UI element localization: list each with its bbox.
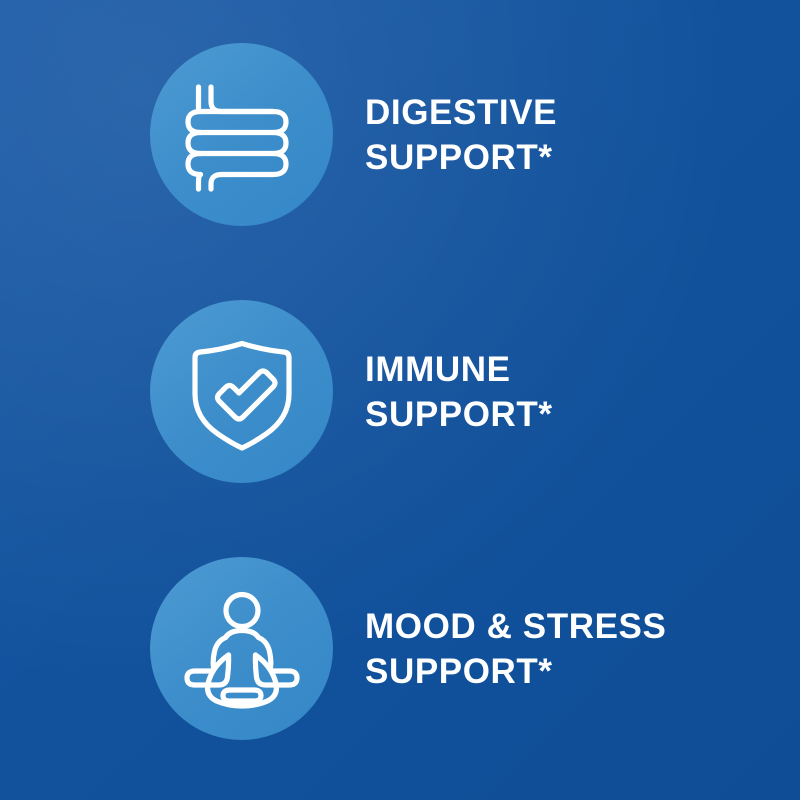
benefit-row-digestive: DIGESTIVE SUPPORT* — [0, 43, 800, 226]
meditation-lotus-icon — [178, 585, 306, 713]
icon-badge-immune — [150, 300, 333, 483]
benefit-row-mood: MOOD & STRESS SUPPORT* — [0, 557, 800, 740]
intestine-icon — [178, 71, 306, 199]
benefits-panel: DIGESTIVE SUPPORT* IMMUNE SUPPORT* — [0, 0, 800, 800]
benefit-label-immune: IMMUNE SUPPORT* — [365, 347, 800, 437]
benefit-row-immune: IMMUNE SUPPORT* — [0, 300, 800, 483]
benefit-label-mood: MOOD & STRESS SUPPORT* — [365, 604, 800, 694]
icon-badge-mood — [150, 557, 333, 740]
benefit-label-digestive: DIGESTIVE SUPPORT* — [365, 90, 800, 180]
icon-badge-digestive — [150, 43, 333, 226]
shield-check-icon — [181, 331, 303, 453]
